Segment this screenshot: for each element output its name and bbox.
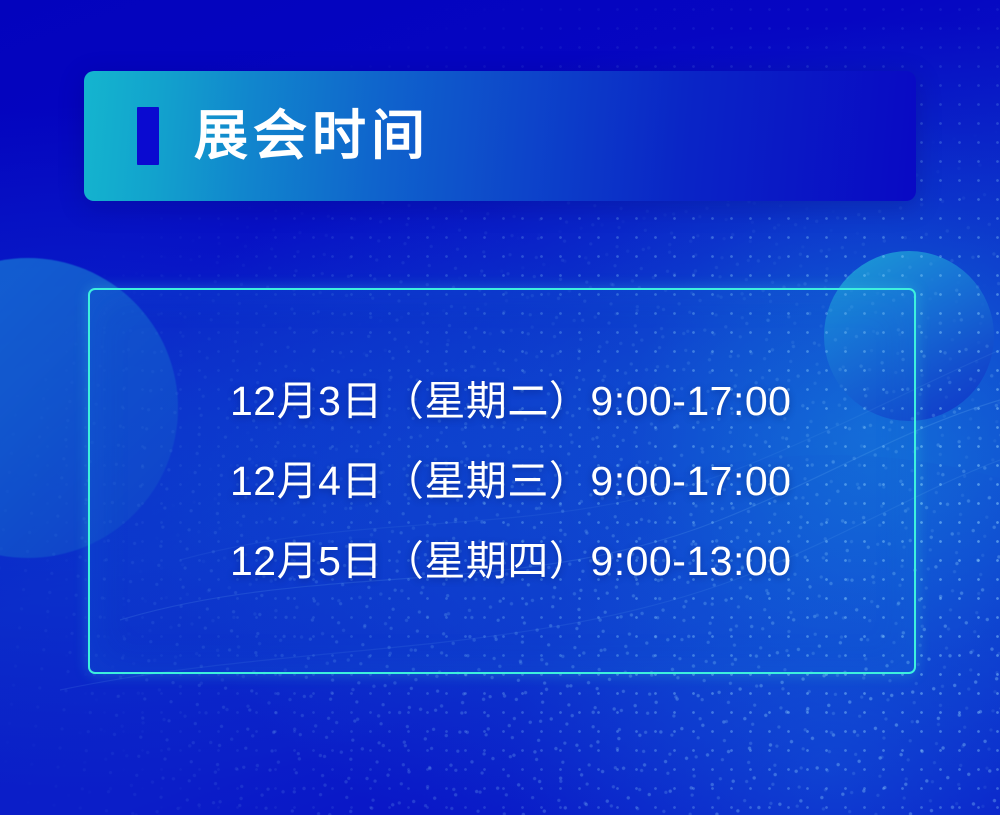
header-banner: 展会时间 [84, 71, 916, 201]
schedule-card: 12月3日（星期二）9:00-17:00 12月4日（星期三）9:00-17:0… [88, 288, 916, 674]
schedule-line: 12月4日（星期三）9:00-17:00 [230, 441, 914, 521]
schedule-line: 12月5日（星期四）9:00-13:00 [230, 521, 914, 601]
page-title: 展会时间 [194, 109, 430, 163]
poster-root: 展会时间 12月3日（星期二）9:00-17:00 12月4日（星期三）9:00… [0, 0, 1000, 815]
title-accent-bar [137, 107, 159, 165]
schedule-line: 12月3日（星期二）9:00-17:00 [230, 361, 914, 441]
